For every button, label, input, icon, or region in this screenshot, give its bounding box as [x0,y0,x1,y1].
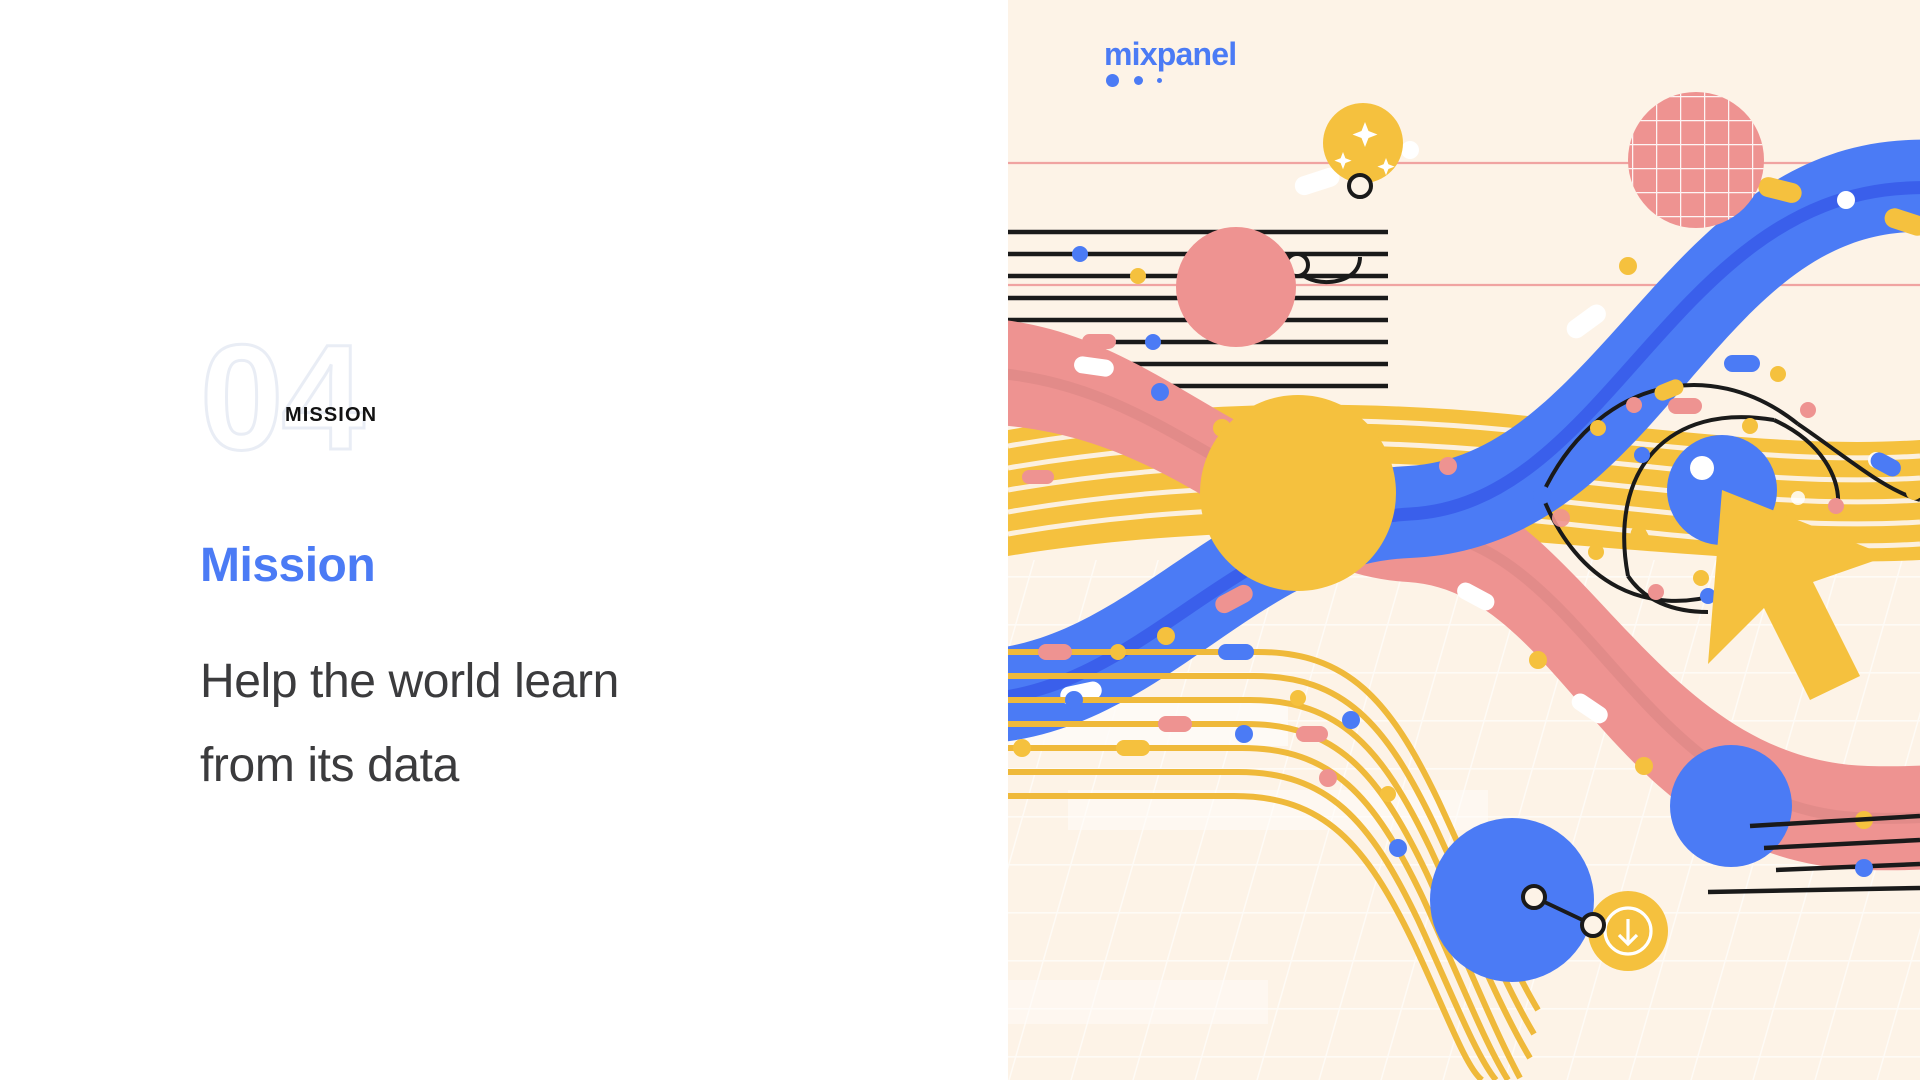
slide: 04 MISSION Mission Help the world learn … [0,0,1920,1080]
blue-circle-bottom [1430,818,1594,982]
connector-node-upper [1349,175,1371,197]
section-marker: 04 MISSION [200,322,460,472]
page-title: Mission [200,540,375,592]
abstract-data-illustration [1008,0,1920,1080]
sparkle-badge [1323,103,1403,183]
section-label: MISSION [285,404,377,427]
connector-node-right [1582,914,1604,936]
body-line-1: Help the world learn [200,655,619,708]
section-number: 04 [200,322,363,472]
connector-node-left [1523,886,1545,908]
body-line-2: from its data [200,739,459,792]
pink-circle [1176,227,1296,347]
center-node [1200,395,1396,591]
pupil-highlight [1690,456,1714,480]
body-copy: Help the world learn from its data [200,640,820,808]
illustration-panel [1008,0,1920,1080]
text-panel: 04 MISSION Mission Help the world learn … [0,0,1008,1080]
